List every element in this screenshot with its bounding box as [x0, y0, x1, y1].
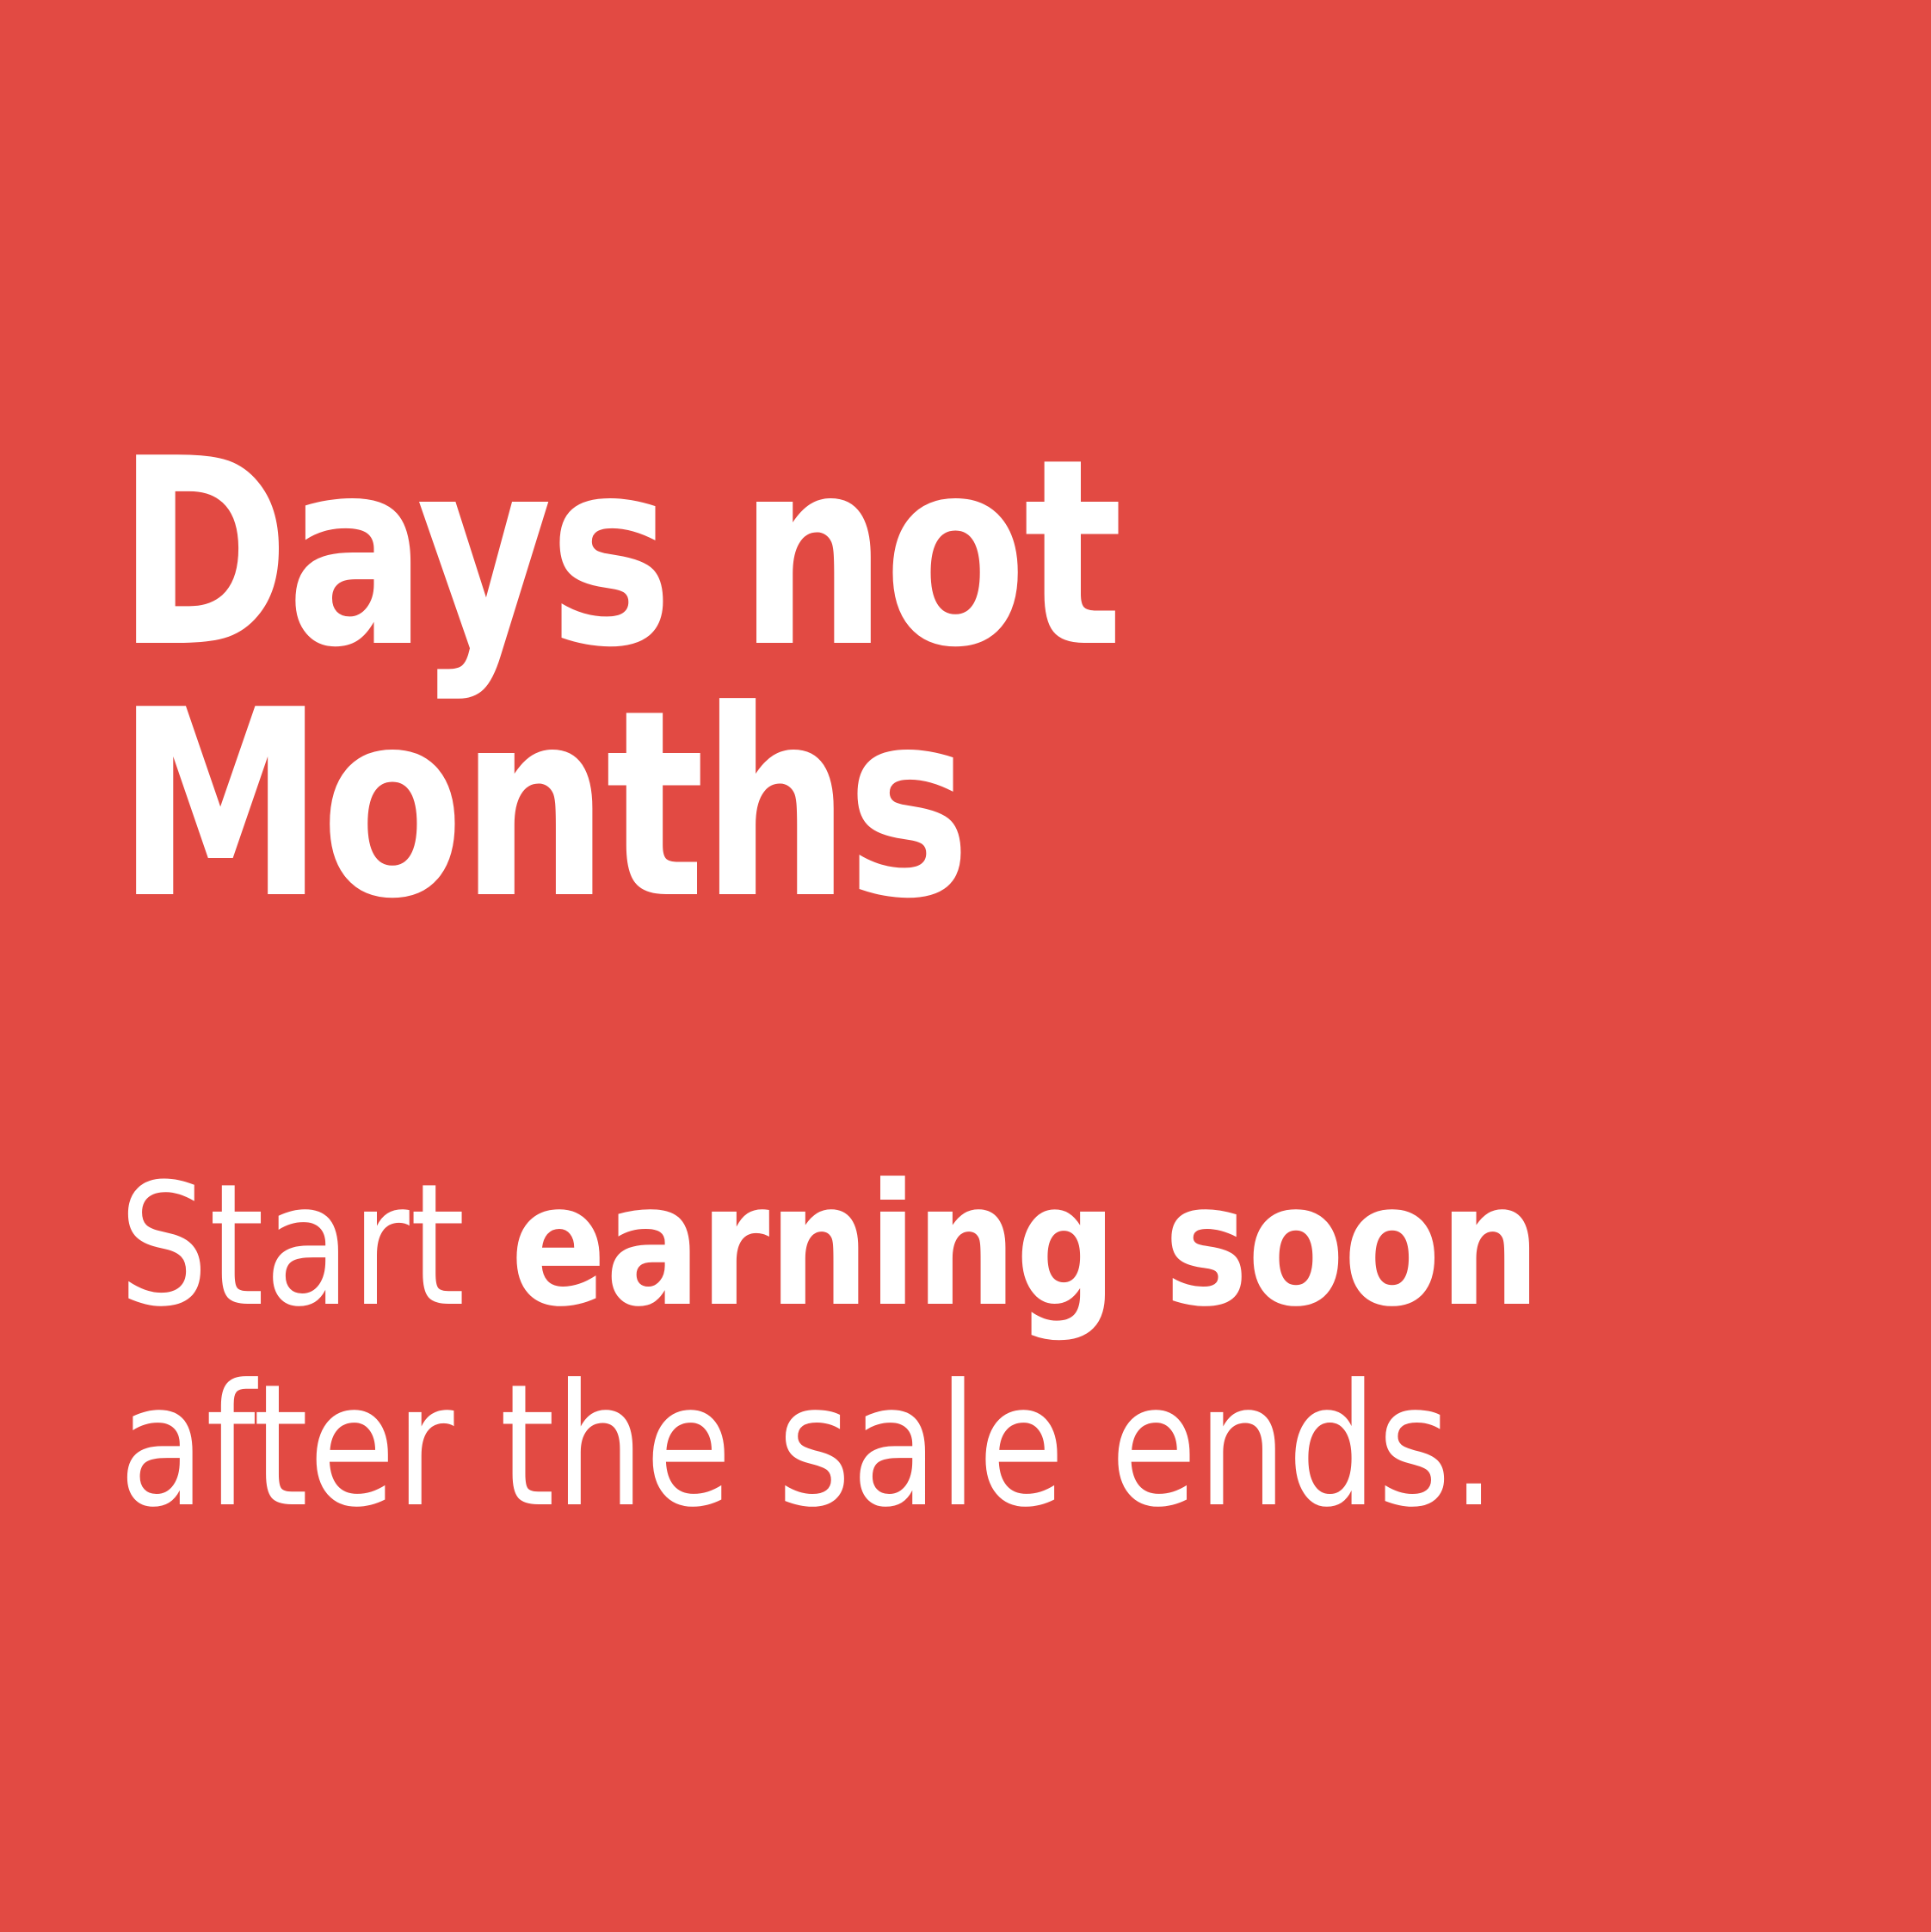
headline-line-2: Months [117, 680, 1581, 931]
headline-line-1: Days not [117, 429, 1581, 680]
subhead: Start earning soon after the sale ends. [119, 1146, 1754, 1547]
subhead-lead-text: Start [119, 1148, 510, 1344]
promo-card: Days not Months Start earning soon after… [0, 0, 1931, 1932]
headline: Days not Months [117, 429, 1752, 931]
subhead-line-1: Start earning soon [119, 1146, 1639, 1347]
subhead-line-2: after the sale ends. [119, 1347, 1639, 1547]
subhead-emphasis-text: earning soon [510, 1148, 1539, 1344]
